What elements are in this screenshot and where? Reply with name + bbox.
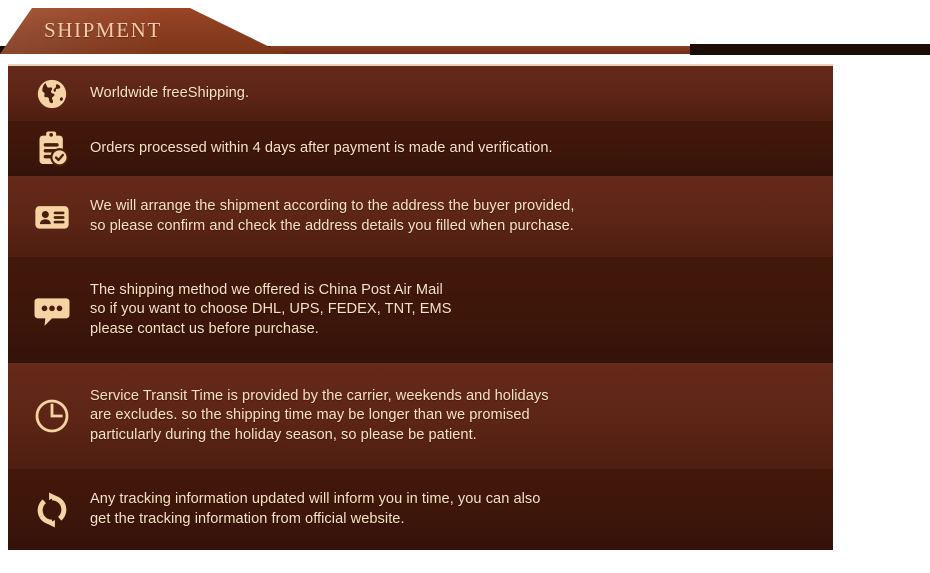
info-row-text: The shipping method we offered is China … [90,281,452,340]
info-row-text: Worldwide freeShipping. [90,84,249,104]
info-row-text: Orders processed within 4 days after pay… [90,139,553,159]
info-row: Service Transit Time is provided by the … [8,363,833,469]
info-row-text: Any tracking information updated will in… [90,490,540,529]
info-row: The shipping method we offered is China … [8,257,833,363]
header-banner: SHIPMENT [0,0,930,62]
page-title: SHIPMENT [44,18,162,43]
info-row-text: Service Transit Time is provided by the … [90,387,549,446]
info-row: We will arrange the shipment according t… [8,176,833,257]
info-row: Any tracking information updated will in… [8,469,833,550]
info-row: Orders processed within 4 days after pay… [8,121,833,176]
refresh-cycle-icon [26,484,78,536]
shipment-info-panel: Worldwide freeShipping.Orders processed … [8,64,833,550]
clock-icon [26,390,78,442]
speech-bubble-icon [26,284,78,336]
info-row-text: We will arrange the shipment according t… [90,197,574,236]
info-row: Worldwide freeShipping. [8,66,833,121]
id-card-icon [26,191,78,243]
clipboard-check-icon [26,123,78,175]
header-accent-bar-dark [690,44,930,55]
globe-icon [26,68,78,120]
